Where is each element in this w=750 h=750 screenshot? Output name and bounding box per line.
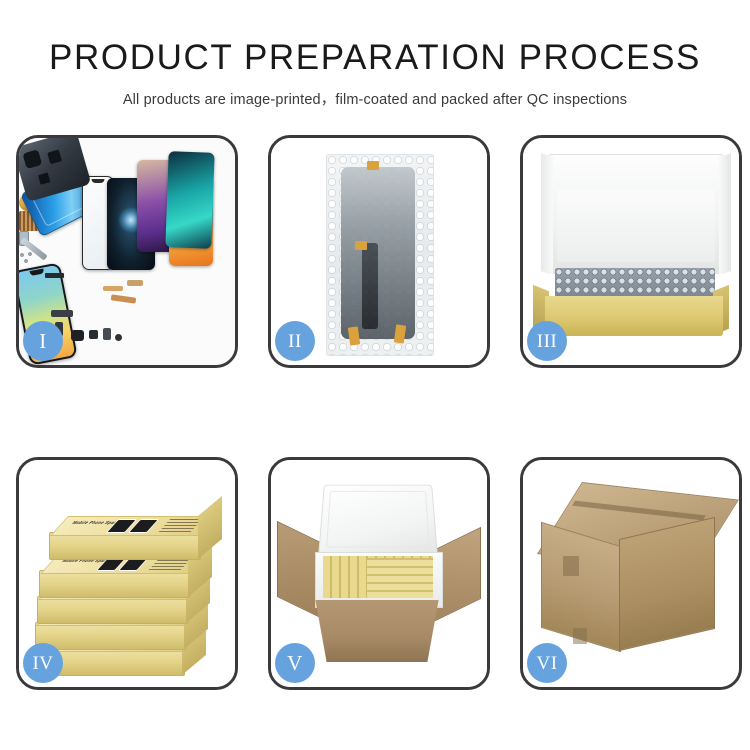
stacked-box-3 <box>37 596 189 624</box>
carton-tab-lower <box>573 628 587 644</box>
styrofoam-lid <box>318 485 438 560</box>
part-bar <box>45 273 64 278</box>
panel-badge-4: IV <box>23 643 63 683</box>
panel-badge-2: II <box>275 321 315 361</box>
bubble-wrapped-contents <box>555 268 715 298</box>
small-component-2 <box>103 328 111 340</box>
flex-cable-part-2 <box>103 286 123 291</box>
stacked-box-2: Mobile Phone Spare Parts <box>39 570 191 598</box>
page-title: PRODUCT PREPARATION PROCESS <box>0 0 750 77</box>
small-component-3 <box>115 334 122 341</box>
carton-right-face <box>619 517 715 651</box>
flex-cable-part-5 <box>127 280 143 286</box>
flex-cable-part-3 <box>51 310 73 317</box>
tape-strip-4 <box>394 324 406 343</box>
stacked-box-1: Mobile Phone Spare Parts <box>49 532 201 560</box>
wrapped-screen-assembly <box>341 167 415 339</box>
process-panel-5: V <box>268 457 490 690</box>
page-header: PRODUCT PREPARATION PROCESS All products… <box>0 0 750 109</box>
panel-badge-1: I <box>23 321 63 361</box>
tape-strip-1 <box>367 161 379 170</box>
box-top-face: Mobile Phone Spare Parts <box>50 516 220 536</box>
panel-badge-5: V <box>275 643 315 683</box>
camera-module-part <box>71 330 84 341</box>
carton-front-panel <box>307 600 447 662</box>
bubble-wrap-package <box>326 154 434 356</box>
process-panel-6: VI <box>520 457 742 690</box>
foam-liner <box>557 190 715 262</box>
page-subtitle: All products are image-printed，film-coat… <box>0 77 750 109</box>
flex-cable-part-1 <box>111 294 137 303</box>
yellow-box-front <box>545 296 723 336</box>
panel-badge-6: VI <box>527 643 567 683</box>
process-panel-3: III <box>520 135 742 368</box>
process-panel-2: II <box>268 135 490 368</box>
yellow-boxes-inside-2 <box>367 558 433 598</box>
process-panel-grid: I II III <box>16 135 734 690</box>
process-panel-1: I <box>16 135 238 368</box>
stacked-box-4 <box>35 622 187 650</box>
small-component-1 <box>89 330 98 339</box>
panel-badge-3: III <box>527 321 567 361</box>
box-label-lines <box>159 518 204 532</box>
tape-strip-2 <box>355 241 367 250</box>
carton-tab-upper <box>563 556 579 576</box>
teal-gradient-phone <box>165 151 214 249</box>
process-panel-4: Mobile Phone Spare Parts Mobile Phone Sp… <box>16 457 238 690</box>
